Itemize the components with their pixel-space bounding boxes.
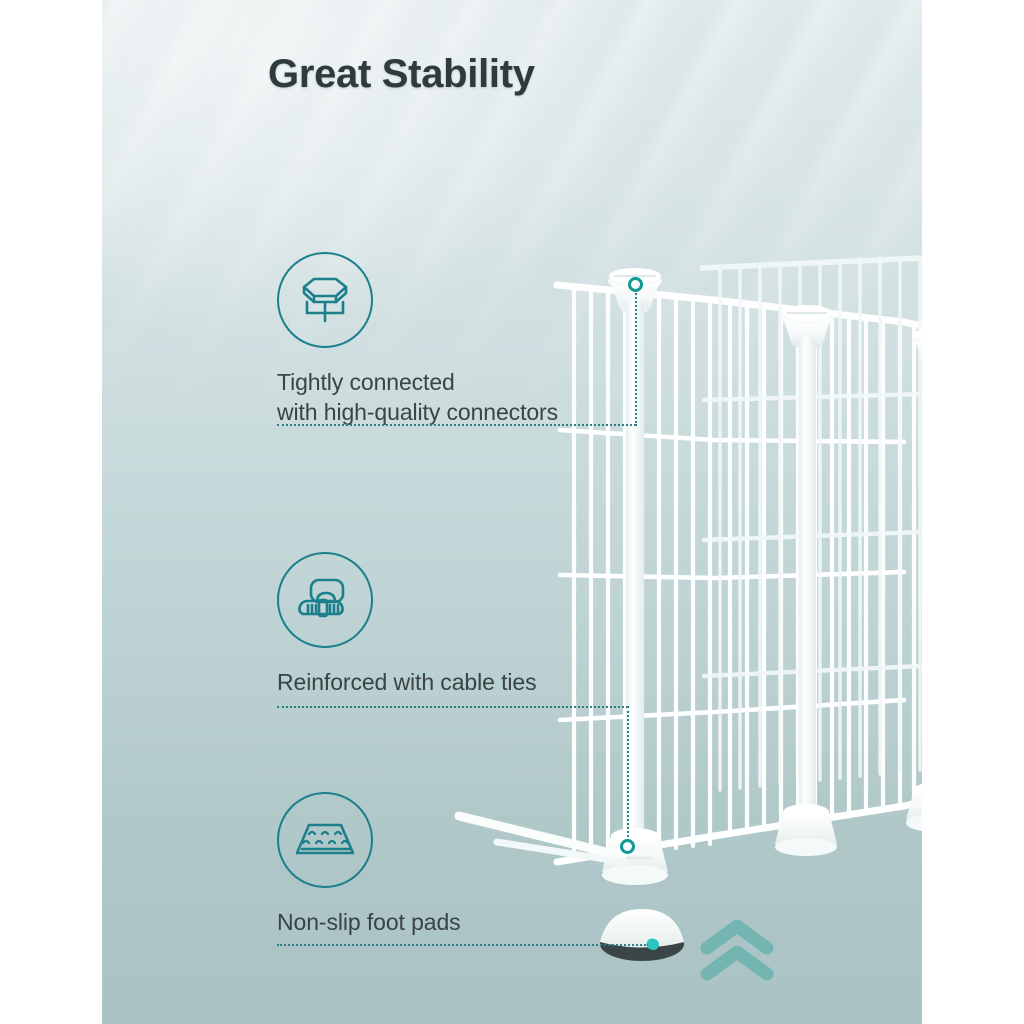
background-light-streaks <box>102 0 922 1024</box>
callout-marker-connectors <box>628 277 643 292</box>
callout-line-connectors-horizontal <box>277 424 636 426</box>
feature-non-slip-foot-pads: Non-slip foot pads <box>277 792 461 938</box>
connector-cap-icon-badge <box>277 252 373 348</box>
feature-label: Tightly connected with high-quality conn… <box>277 368 558 428</box>
foot-pad-grip-icon <box>293 819 357 861</box>
double-chevron-up-icon <box>697 912 777 982</box>
foot-pad-grip-icon-badge <box>277 792 373 888</box>
page-title: Great Stability <box>268 52 535 97</box>
foot-pad-closeup-inset <box>597 900 687 962</box>
callout-marker-cable-ties <box>620 839 635 854</box>
callout-line-cable-ties-horizontal <box>277 706 628 708</box>
product-image-canvas: Great Stability Tightly c <box>102 0 922 1024</box>
callout-marker-foot-pads <box>648 939 659 950</box>
feature-cable-ties: Reinforced with cable ties <box>277 552 536 698</box>
connector-cap-icon <box>294 271 356 329</box>
callout-line-connectors-vertical <box>635 290 637 426</box>
feature-tightly-connected: Tightly connected with high-quality conn… <box>277 252 558 428</box>
callout-line-cable-ties-vertical <box>627 706 629 841</box>
infographic-stage: Great Stability Tightly c <box>0 0 1024 1024</box>
callout-line-foot-pads-horizontal <box>277 944 649 946</box>
feature-label: Reinforced with cable ties <box>277 668 536 698</box>
cable-tie-icon <box>294 574 356 626</box>
cable-tie-icon-badge <box>277 552 373 648</box>
feature-label: Non-slip foot pads <box>277 908 461 938</box>
